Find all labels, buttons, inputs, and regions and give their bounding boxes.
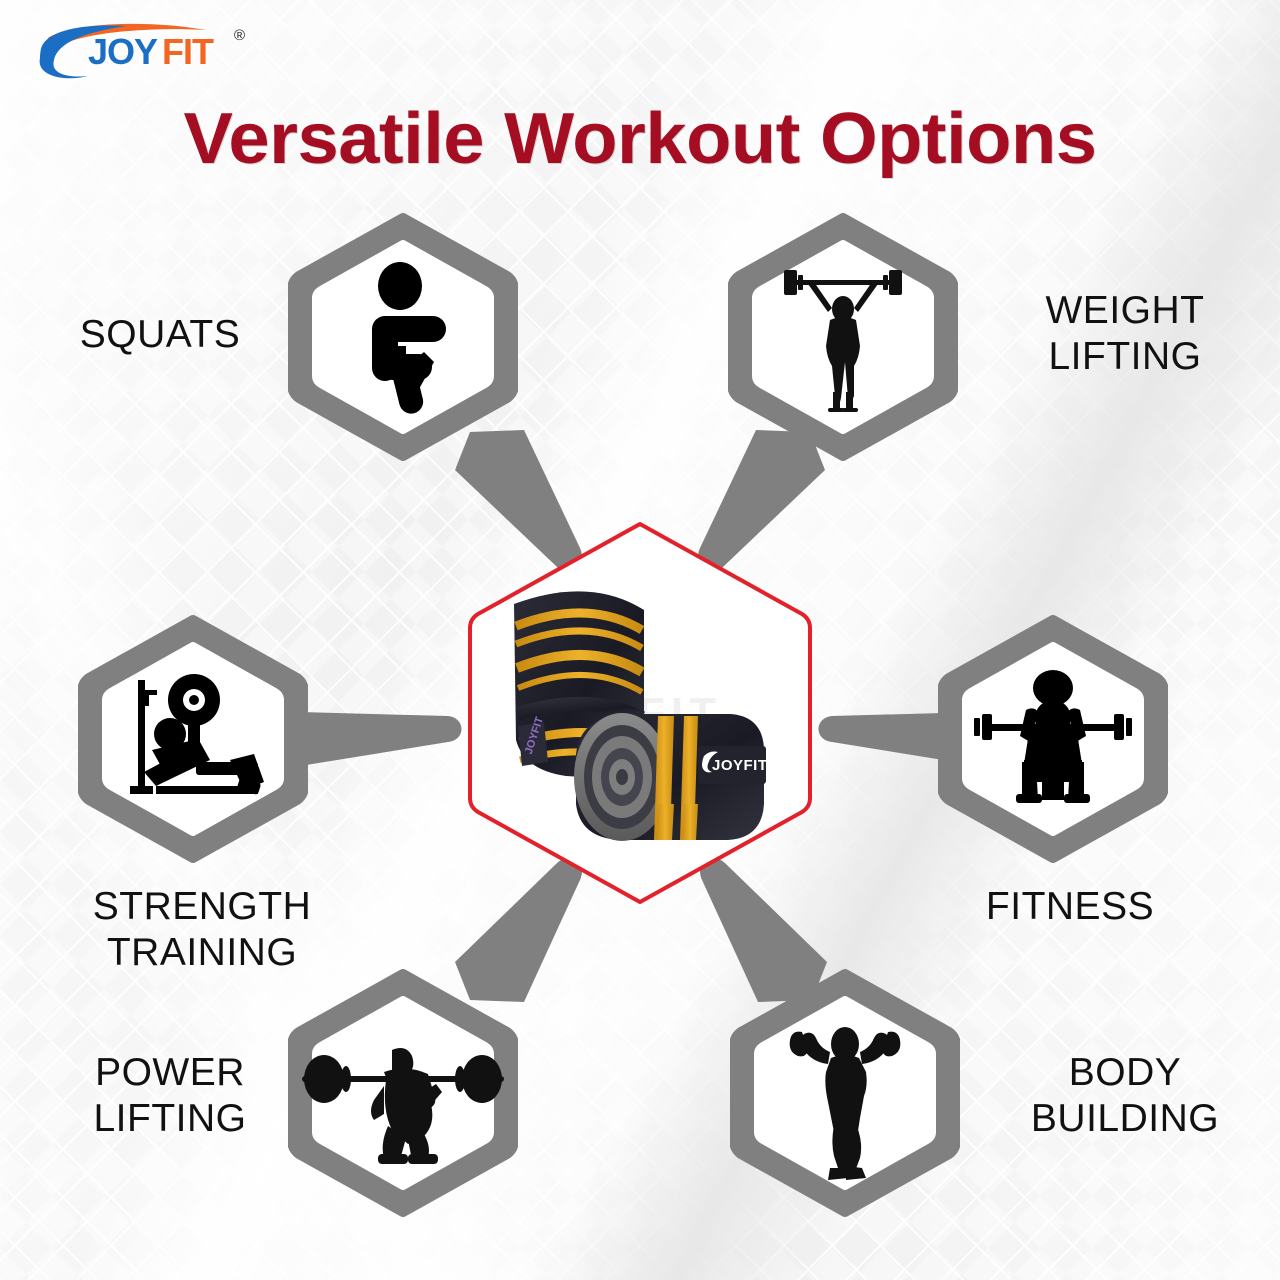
joyfit-logo-svg: JOY FIT ®: [30, 18, 280, 80]
node-squats[interactable]: [288, 212, 518, 462]
hex-frame-body-building: [730, 968, 960, 1218]
logo-trademark-symbol: ®: [234, 27, 245, 44]
label-power-lifting: POWER LIFTING: [50, 1050, 290, 1142]
node-fitness[interactable]: [938, 614, 1168, 864]
hex-frame-squats: [288, 212, 518, 462]
logo-text-joy: JOY: [88, 31, 158, 72]
joyfit-logo: JOY FIT ®: [30, 18, 280, 80]
infographic-canvas: JOY FIT ® Versatile Workout Options: [0, 0, 1280, 1280]
label-strength-training: STRENGTH TRAINING: [62, 884, 342, 976]
node-body-building[interactable]: [730, 968, 960, 1218]
label-squats: SQUATS: [40, 312, 280, 358]
hex-frame-power-lifting: [288, 968, 518, 1218]
node-strength-training[interactable]: [78, 614, 308, 864]
hex-frame-fitness: [938, 614, 1168, 864]
label-fitness: FITNESS: [930, 884, 1210, 930]
page-title: Versatile Workout Options: [0, 98, 1280, 180]
label-body-building: BODY BUILDING: [1000, 1050, 1250, 1142]
logo-text-fit: FIT: [162, 31, 214, 72]
label-weight-lifting: WEIGHT LIFTING: [1000, 288, 1250, 380]
center-hex-svg: JOYFIT JOYFIT: [462, 518, 818, 908]
hex-frame-strength-training: [78, 614, 308, 864]
product-label-text: JOYFIT: [712, 757, 768, 774]
connector-strength-training: [300, 712, 462, 766]
node-power-lifting[interactable]: [288, 968, 518, 1218]
wrap-rolled: JOYFIT: [574, 713, 768, 841]
node-weight-lifting[interactable]: [728, 212, 958, 462]
hex-frame-weight-lifting: [728, 212, 958, 462]
node-center-product[interactable]: JOYFIT JOYFIT: [462, 518, 818, 908]
